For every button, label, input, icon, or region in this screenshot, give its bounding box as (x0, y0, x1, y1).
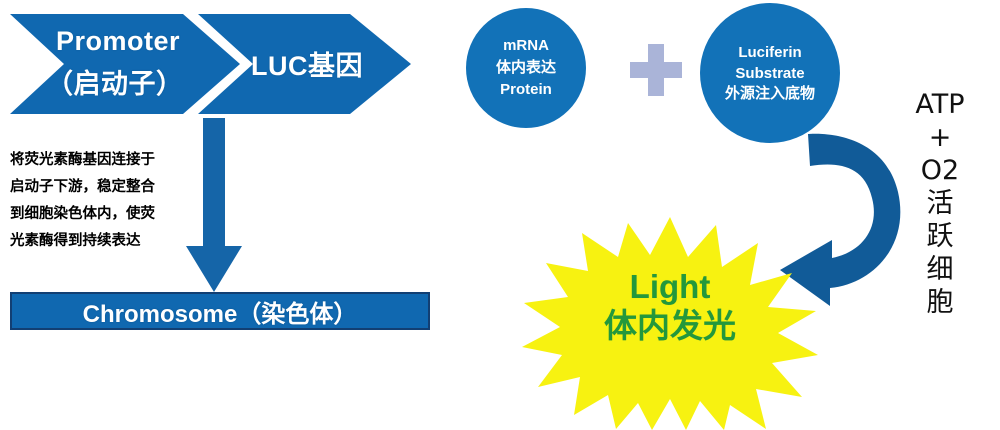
plus-icon (628, 42, 684, 98)
mrna-protein-circle: mRNA 体内表达 Protein (466, 8, 586, 128)
luc-gene-label: LUC基因 (251, 44, 363, 83)
diagram-canvas: Promoter （启动子） LUC基因 将荧光素酶基因连接于 启动子下游，稳定… (0, 0, 1000, 430)
luciferin-line-3: 外源注入底物 (717, 84, 823, 104)
chromosome-label: Chromosome（染色体） (83, 294, 358, 329)
chromosome-bar: Chromosome（染色体） (10, 292, 430, 330)
light-label-en: Light (560, 270, 780, 305)
light-label-zh: 体内发光 (560, 309, 780, 344)
description-line-2: 启动子下游，稳定整合 (10, 174, 206, 201)
atp-line-2: + (905, 121, 975, 154)
down-arrow-icon (182, 118, 246, 294)
construct-description: 将荧光素酶基因连接于 启动子下游，稳定整合 到细胞染色体内，使荧 光素酶得到持续… (10, 147, 206, 255)
atp-line-6: 细 (905, 253, 975, 286)
promoter-label-zh: （启动子） (46, 62, 184, 101)
mrna-line-2: 体内表达 (496, 57, 556, 79)
light-output-label: Light 体内发光 (560, 270, 780, 343)
promoter-label-en: Promoter (56, 26, 180, 57)
atp-line-7: 胞 (905, 286, 975, 319)
description-line-1: 将荧光素酶基因连接于 (10, 147, 206, 174)
description-line-4: 光素酶得到持续表达 (10, 228, 206, 255)
atp-line-3: O2 (905, 154, 975, 187)
luciferin-line-1: Luciferin (738, 42, 801, 63)
promoter-luc-construct: Promoter （启动子） LUC基因 (8, 12, 413, 116)
atp-line-5: 跃 (905, 220, 975, 253)
luciferin-line-2: Substrate (735, 63, 804, 84)
mrna-line-1: mRNA (503, 35, 549, 57)
atp-line-1: ATP (905, 88, 975, 121)
atp-o2-cells-label: ATP + O2 活 跃 细 胞 (905, 88, 975, 319)
atp-line-4: 活 (905, 187, 975, 220)
mrna-line-3: Protein (500, 79, 552, 101)
description-line-3: 到细胞染色体内，使荧 (10, 201, 206, 228)
